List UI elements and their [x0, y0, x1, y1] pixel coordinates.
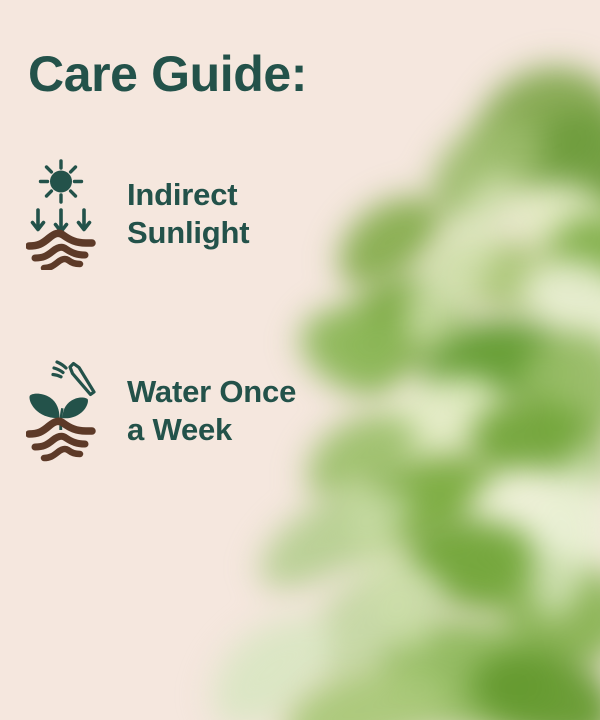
care-item-indirect-sunlight: Indirect Sunlight — [26, 158, 249, 270]
care-item-water-once-a-week: Water Once a Week — [26, 352, 296, 464]
soil-waves-icon — [29, 233, 92, 268]
sun-icon — [41, 161, 82, 202]
care-guide-card: Care Guide: — [0, 0, 600, 720]
care-item-label: Water Once a Week — [127, 373, 296, 449]
water-once-a-week-icon — [26, 352, 96, 464]
page-title: Care Guide: — [28, 48, 307, 101]
indirect-sunlight-icon — [26, 158, 96, 270]
down-arrows-icon — [33, 210, 90, 232]
care-item-label: Indirect Sunlight — [127, 176, 249, 252]
watering-can-spout-icon — [53, 362, 94, 395]
